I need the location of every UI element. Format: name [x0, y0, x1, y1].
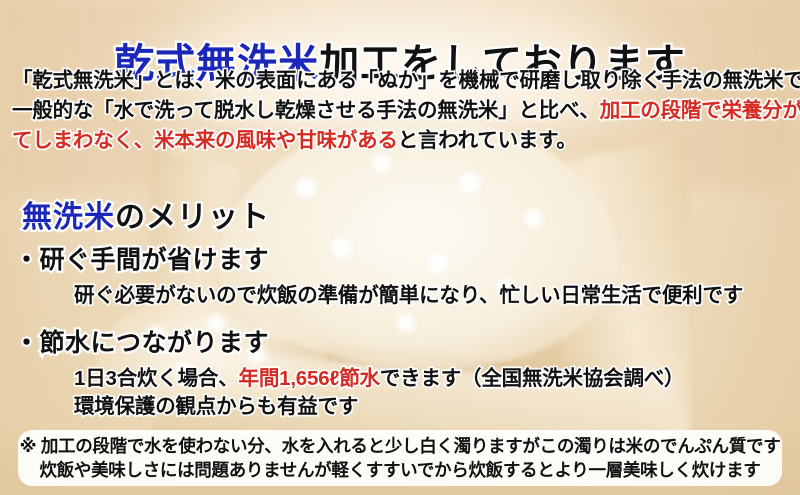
footnote-line-1: 炊飯や美味しさには問題ありませんが軽くすすいでから炊飯するとより一層美味しく炊け… — [40, 458, 761, 483]
merit-title-1: ・節水につながります — [14, 323, 790, 359]
merit-0-subline-0: 研ぐ必要がないので炊飯の準備が簡単になり、忙しい日常生活で便利です — [14, 282, 790, 309]
intro-line-1-run-1: 加工の段階で栄養分が流れ — [600, 99, 800, 122]
intro-line-0-run-0: 「乾式無洗米」とは、米の表面にある「ぬか」を機械で研磨し取り除く手法の無洗米です… — [12, 69, 800, 92]
merit-item-0: ・研ぐ手間が省けます研ぐ必要がないので炊飯の準備が簡単になり、忙しい日常生活で便… — [14, 240, 790, 309]
merit-1-subline-1: 環境保護の観点からも有益です — [14, 393, 790, 420]
merit-1-subline-0-run-1: 年間1,656ℓ節水 — [239, 367, 380, 390]
merits-list: ・研ぐ手間が省けます研ぐ必要がないので炊飯の準備が簡単になり、忙しい日常生活で便… — [14, 240, 790, 434]
merits-heading: 無洗米のメリット — [22, 192, 270, 236]
intro-line-1: 一般的な「水で洗って脱水し乾燥させる手法の無洗米」と比べ、加工の段階で栄養分が流… — [12, 96, 794, 126]
merit-item-1: ・節水につながります1日3合炊く場合、年間1,656ℓ節水できます（全国無洗米協… — [14, 323, 790, 420]
merit-1-subline-1-run-0: 環境保護の観点からも有益です — [74, 395, 358, 418]
intro-line-1-run-0: 一般的な「水で洗って脱水し乾燥させる手法の無洗米」と比べ、 — [12, 99, 600, 122]
intro-line-2-run-0: てしまわなく、米本来の風味や甘味がある — [12, 129, 398, 152]
intro-line-2: てしまわなく、米本来の風味や甘味があると言われています。 — [12, 126, 794, 156]
merits-heading-highlight: 無洗米 — [22, 201, 115, 234]
footnote-box: ※ 加工の段階で水を使わない分、水を入れると少し白く濁りますがこの濁りは米のでん… — [18, 430, 782, 486]
merits-heading-rest: のメリット — [115, 201, 270, 234]
intro-paragraph: 「乾式無洗米」とは、米の表面にある「ぬか」を機械で研磨し取り除く手法の無洗米です… — [12, 66, 794, 156]
merit-1-subline-0: 1日3合炊く場合、年間1,656ℓ節水できます（全国無洗米協会調べ） — [14, 365, 790, 392]
merit-title-0: ・研ぐ手間が省けます — [14, 240, 790, 276]
merit-1-subline-0-run-2: できます（全国無洗米協会調べ） — [380, 367, 685, 390]
merit-1-subline-0-run-0: 1日3合炊く場合、 — [74, 367, 239, 390]
merit-0-subline-0-run-0: 研ぐ必要がないので炊飯の準備が簡単になり、忙しい日常生活で便利です — [74, 284, 743, 307]
intro-line-2-run-1: と言われています。 — [398, 129, 577, 152]
promo-poster: 乾式無洗米加工をしております 「乾式無洗米」とは、米の表面にある「ぬか」を機械で… — [0, 0, 800, 495]
intro-line-0: 「乾式無洗米」とは、米の表面にある「ぬか」を機械で研磨し取り除く手法の無洗米です… — [12, 66, 794, 96]
footnote-line-0: ※ 加工の段階で水を使わない分、水を入れると少し白く濁りますがこの濁りは米のでん… — [20, 434, 781, 459]
